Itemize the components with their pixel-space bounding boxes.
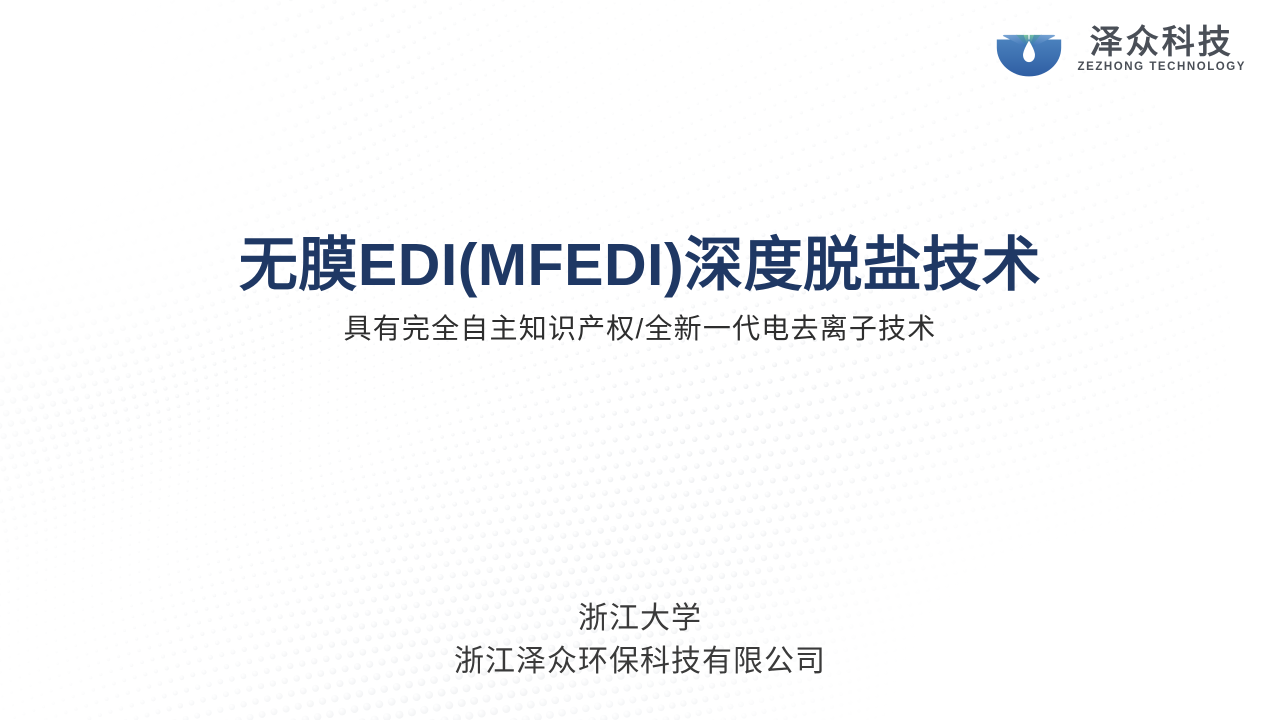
slide-subtitle: 具有完全自主知识产权/全新一代电去离子技术 (0, 312, 1280, 346)
affiliation-block: 浙江大学 浙江泽众环保科技有限公司 (0, 598, 1280, 683)
logo-company-name-cn: 泽众科技 (1090, 25, 1234, 59)
slide-main-title: 无膜EDI(MFEDI)深度脱盐技术 (0, 232, 1280, 298)
logo-company-name-en: ZEZHONG TECHNOLOGY (1078, 61, 1246, 73)
affiliation-line-company: 浙江泽众环保科技有限公司 (0, 641, 1280, 684)
logo-wordmark: 泽众科技 ZEZHONG TECHNOLOGY (1078, 25, 1246, 74)
title-slide: 泽众科技 ZEZHONG TECHNOLOGY 无膜EDI(MFEDI)深度脱盐… (0, 0, 1280, 720)
title-block: 无膜EDI(MFEDI)深度脱盐技术 具有完全自主知识产权/全新一代电去离子技术 (0, 232, 1280, 346)
company-logo: 泽众科技 ZEZHONG TECHNOLOGY (993, 18, 1246, 80)
lotus-water-drop-icon (993, 18, 1065, 80)
affiliation-line-university: 浙江大学 (0, 598, 1280, 641)
